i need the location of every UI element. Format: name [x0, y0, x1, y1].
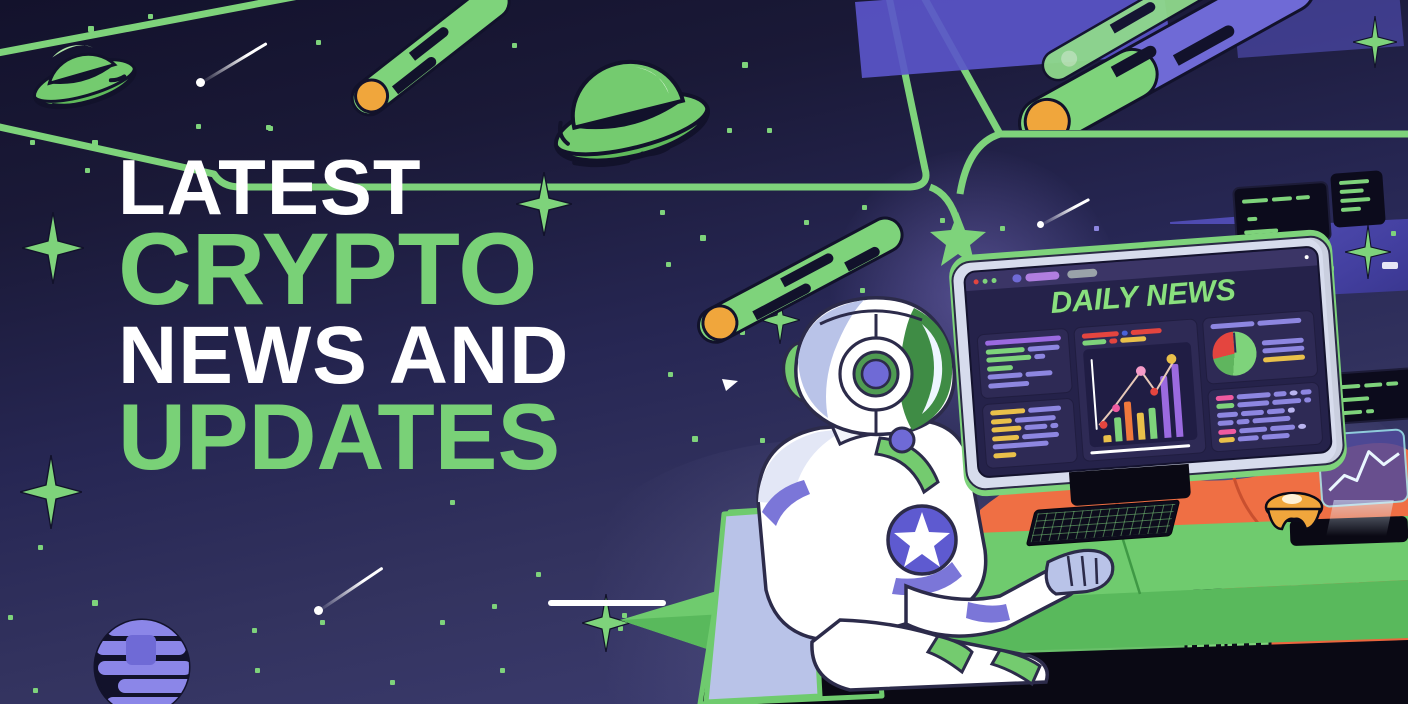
comet-top-left — [306, 0, 556, 122]
star-dot — [33, 688, 38, 693]
monitor[interactable]: DAILY NEWS — [950, 234, 1346, 491]
star-dot — [1000, 226, 1005, 231]
comet-ceiling — [1000, 0, 1260, 90]
indicator-bars — [1339, 179, 1371, 212]
browser-dot-green2[interactable] — [991, 277, 996, 282]
browser-dot-green1[interactable] — [982, 278, 987, 283]
star-dot — [500, 668, 505, 673]
chart-plot-area — [1083, 342, 1199, 448]
sparkle-star-icon — [1345, 225, 1391, 279]
star-dot — [38, 545, 43, 550]
headline-line-2: CRYPTO — [118, 221, 738, 319]
card-chart[interactable] — [1073, 318, 1207, 462]
star-dot — [450, 500, 455, 505]
star-dot — [390, 680, 395, 685]
browser-tab-1[interactable] — [1012, 274, 1022, 283]
star-dot — [85, 168, 90, 173]
dashboard-left-column — [976, 328, 1077, 469]
sparkle-star-icon — [20, 455, 82, 529]
browser-tab-3[interactable] — [1067, 268, 1098, 278]
star-dot — [196, 124, 201, 129]
star-dot — [320, 620, 325, 625]
card-table[interactable] — [1208, 381, 1324, 452]
banner-root: LATEST CRYPTO NEWS AND UPDATES — [0, 0, 1408, 704]
card-pie[interactable] — [1202, 310, 1318, 384]
card-articles-top[interactable] — [976, 328, 1072, 400]
headline-line-4: UPDATES — [118, 392, 738, 482]
pie-chart — [1211, 330, 1258, 377]
star-dot — [92, 140, 98, 146]
star-dot — [767, 128, 772, 133]
star-dot — [536, 572, 541, 577]
ufo-saucer-large — [22, 24, 142, 124]
star-dot — [92, 600, 98, 606]
planet-striped — [92, 617, 192, 704]
hologram-beam — [1326, 500, 1394, 536]
card-articles-bottom[interactable] — [982, 398, 1078, 470]
star-dot — [268, 126, 273, 131]
star-dot — [8, 615, 13, 620]
browser-indicator — [1305, 255, 1309, 259]
star-dot — [440, 620, 445, 625]
star-dot — [492, 604, 497, 609]
page-title: LATEST CRYPTO NEWS AND UPDATES — [118, 150, 738, 482]
monitor-screen: DAILY NEWS — [963, 245, 1333, 479]
browser-tab-2[interactable] — [1025, 271, 1059, 281]
star-dot — [1094, 226, 1099, 231]
star-dot — [252, 628, 257, 633]
browser-dot-red[interactable] — [973, 279, 978, 284]
star-dot — [255, 668, 260, 673]
dashboard — [976, 310, 1323, 469]
star-dot — [148, 14, 153, 19]
sparkle-star-icon — [22, 212, 84, 284]
star-dot — [742, 62, 748, 68]
chart-trend-points — [1083, 342, 1199, 448]
dashboard-right-column — [1202, 310, 1323, 453]
dashboard-center-column — [1073, 318, 1207, 462]
star-dot — [30, 140, 35, 145]
alien-object — [1262, 485, 1326, 542]
star-dot — [1391, 231, 1396, 236]
